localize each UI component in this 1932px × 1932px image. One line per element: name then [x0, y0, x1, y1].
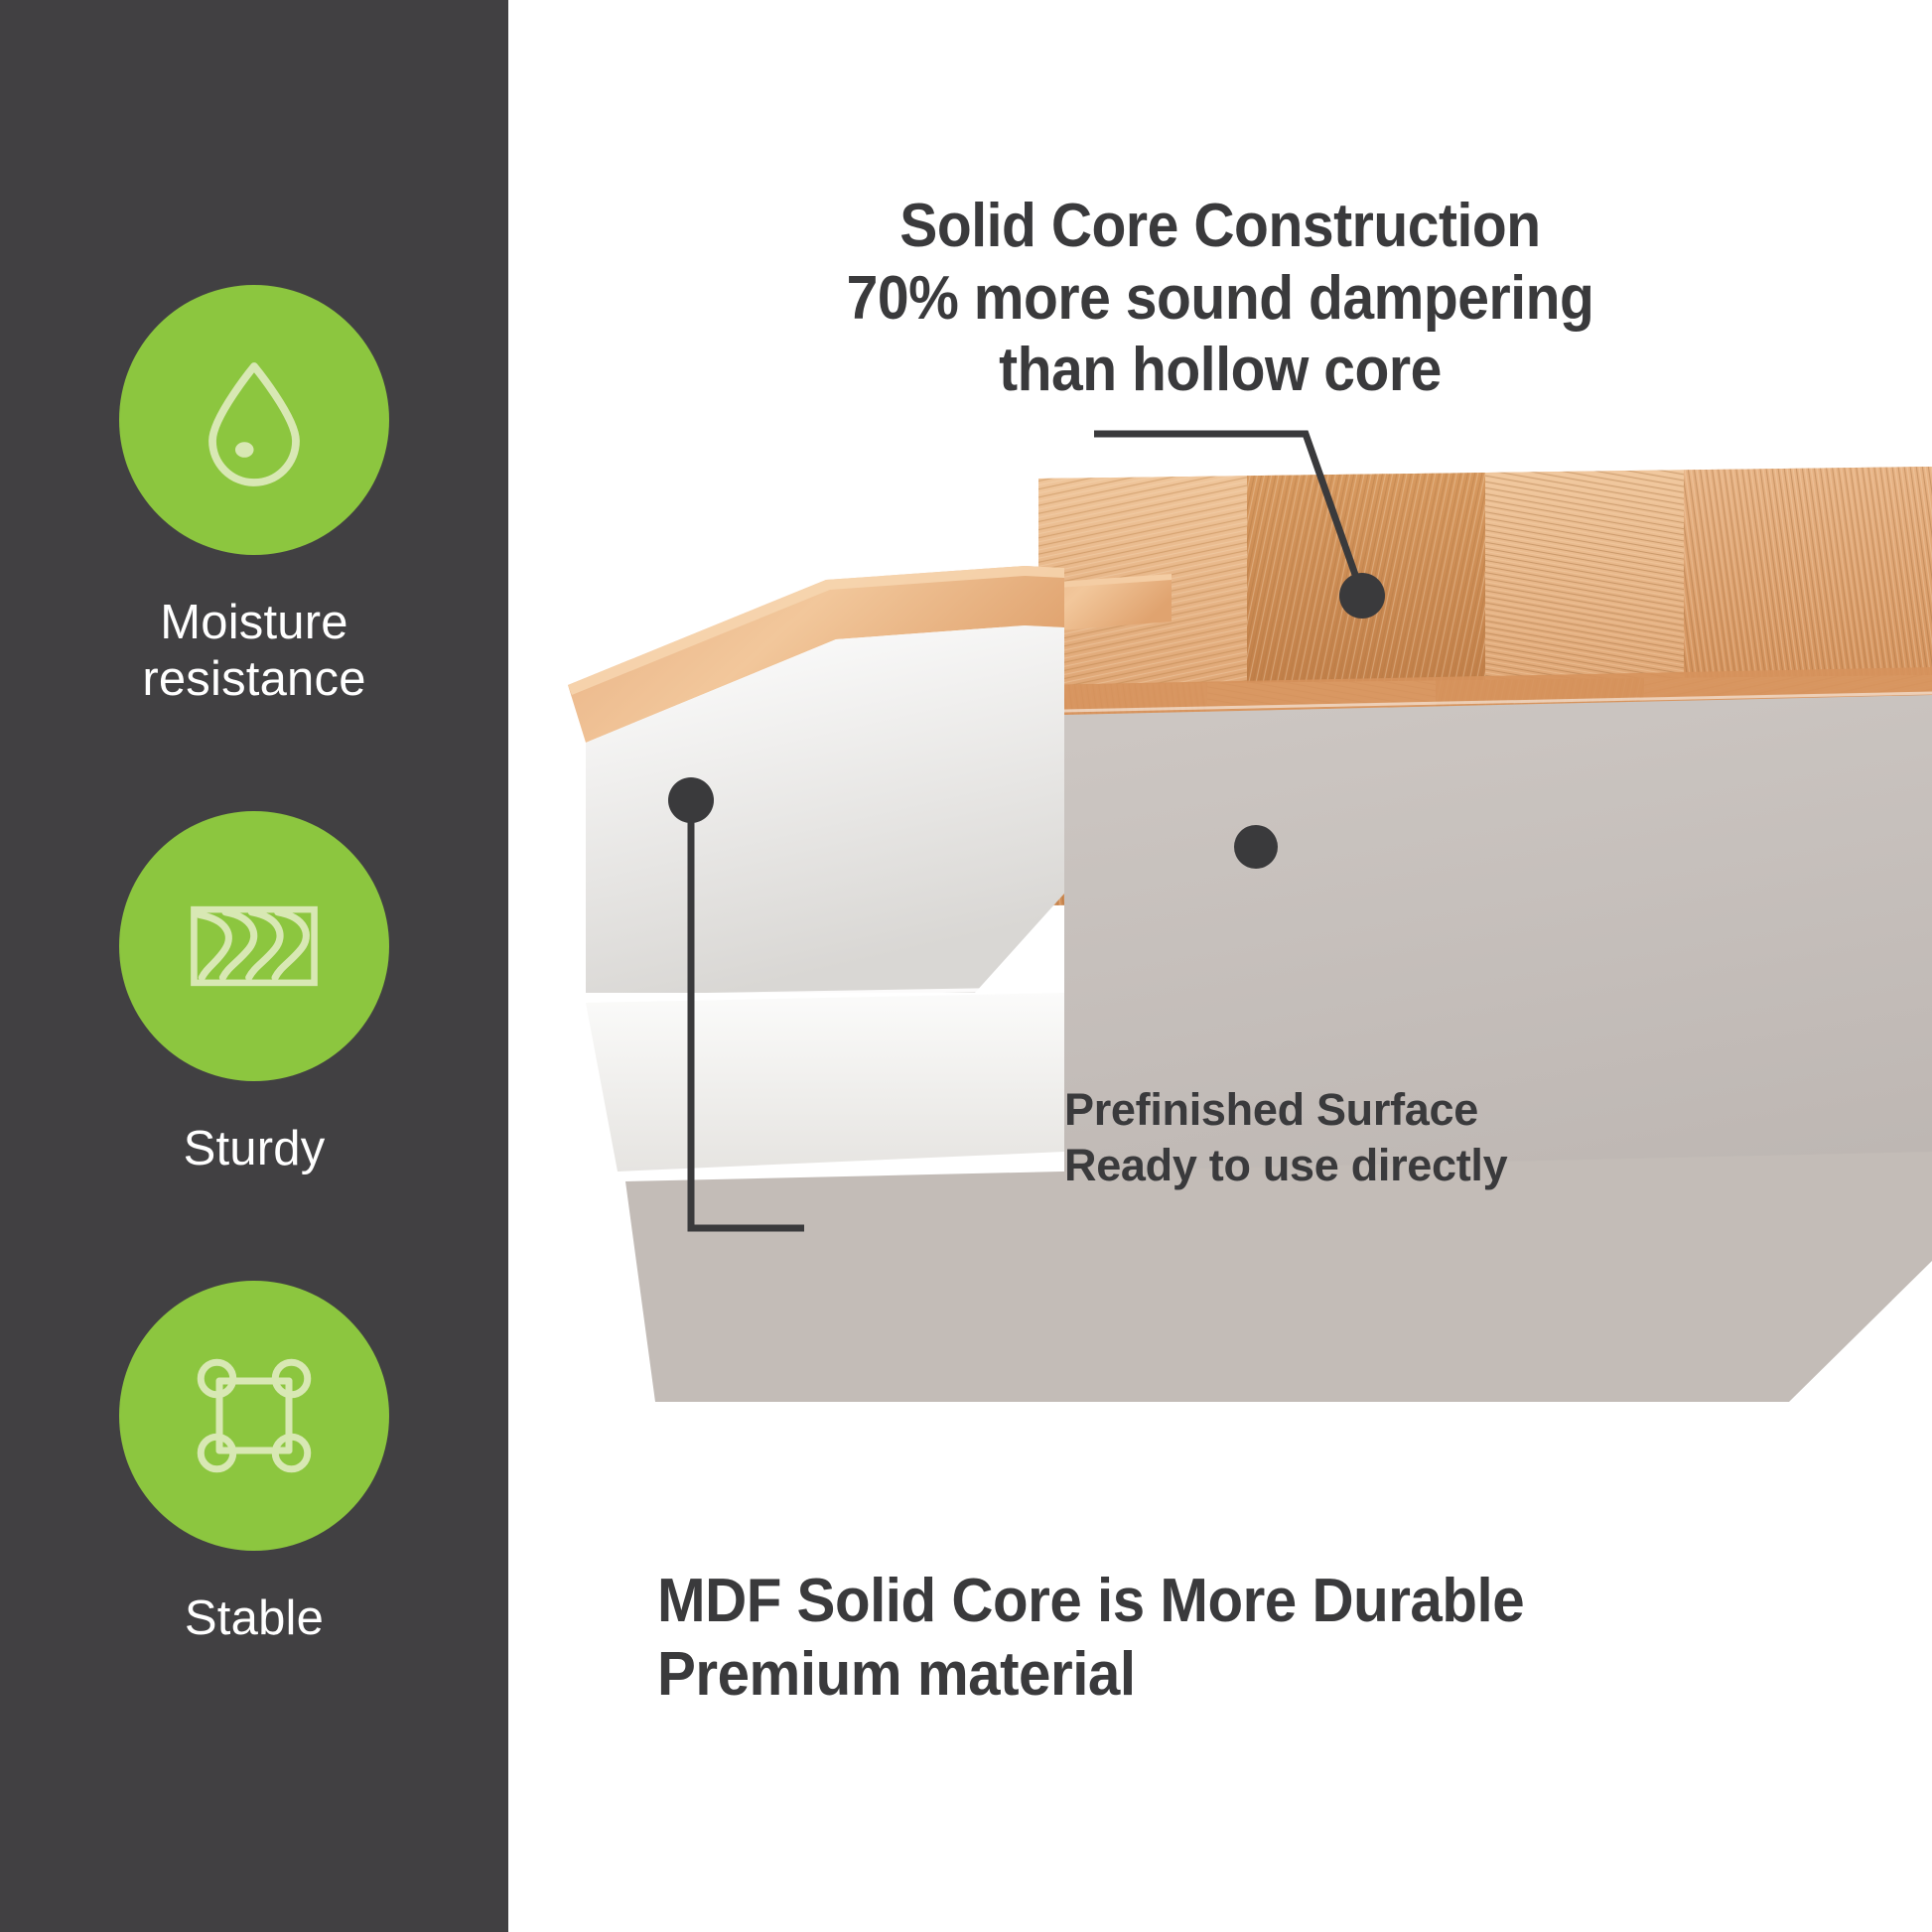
feature-sturdy: Sturdy: [0, 811, 508, 1177]
feature-stable: Stable: [0, 1281, 508, 1647]
feature-badge: [119, 811, 389, 1081]
water-drop-icon: [180, 345, 329, 494]
feature-badge: [119, 1281, 389, 1551]
features-sidebar: Moisture resistance Sturdy: [0, 0, 508, 1932]
frame-nodes-icon: [180, 1341, 329, 1490]
caption-prefinished-surface: Prefinished Surface Ready to use directl…: [1064, 1082, 1561, 1194]
caption-mdf-solid-core: MDF Solid Core is More Durable Premium m…: [657, 1565, 1758, 1713]
headline-solid-core: Solid Core Construction 70% more sound d…: [565, 191, 1874, 407]
feature-label: Stable: [185, 1590, 324, 1647]
wood-grain-icon: [176, 868, 333, 1025]
feature-label: Sturdy: [184, 1121, 326, 1177]
feature-badge: [119, 285, 389, 555]
feature-label: Moisture resistance: [142, 595, 365, 708]
feature-moisture-resistance: Moisture resistance: [0, 285, 508, 708]
infographic-canvas: Moisture resistance Sturdy: [0, 0, 1932, 1932]
product-stage: Solid Core Construction 70% more sound d…: [508, 0, 1932, 1932]
